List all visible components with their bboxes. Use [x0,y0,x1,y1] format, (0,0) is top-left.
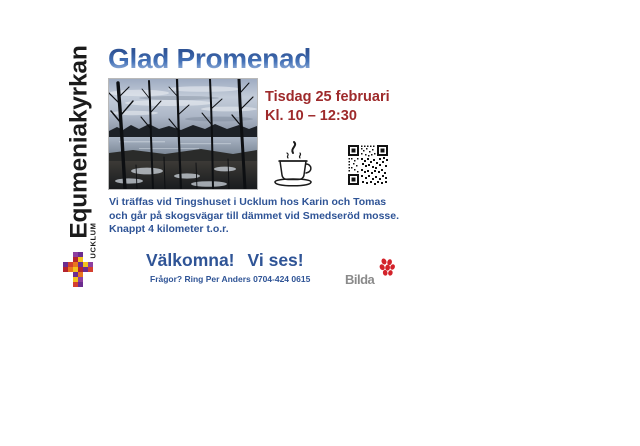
contact-info: Frågor? Ring Per Anders 0704-424 0615 [150,274,310,284]
event-datetime: Tisdag 25 februari Kl. 10 – 12:30 [265,88,390,126]
event-time: Kl. 10 – 12:30 [265,107,390,126]
qr-code-icon[interactable] [347,144,389,186]
event-date: Tisdag 25 februari [265,88,390,107]
event-description: Vi träffas vid Tingshuset i Ucklum hos K… [109,196,399,237]
poster-canvas: Equmeniakyrkan UCKLUM [0,0,640,446]
bilda-wordmark: Bilda [345,272,374,287]
equmenia-cross-logo [59,252,95,288]
description-line-3: Knappt 4 kilometer t.o.r. [109,223,399,237]
welcome-part-1: Välkomna! [146,250,235,270]
description-line-2: och går på skogsvägar till dämmet vid Sm… [109,210,399,224]
bilda-sponsor-logo: Bilda [345,258,397,290]
page-title: Glad Promenad [108,43,311,75]
church-brand-rail: Equmeniakyrkan UCKLUM [54,40,106,295]
welcome-part-2: Vi ses! [248,250,304,270]
bilda-petals-icon [377,258,397,278]
coffee-cup-icon [272,139,316,187]
description-line-1: Vi träffas vid Tingshuset i Ucklum hos K… [109,196,399,210]
landscape-photo [108,78,258,190]
welcome-message: Välkomna!Vi ses! [146,250,304,271]
